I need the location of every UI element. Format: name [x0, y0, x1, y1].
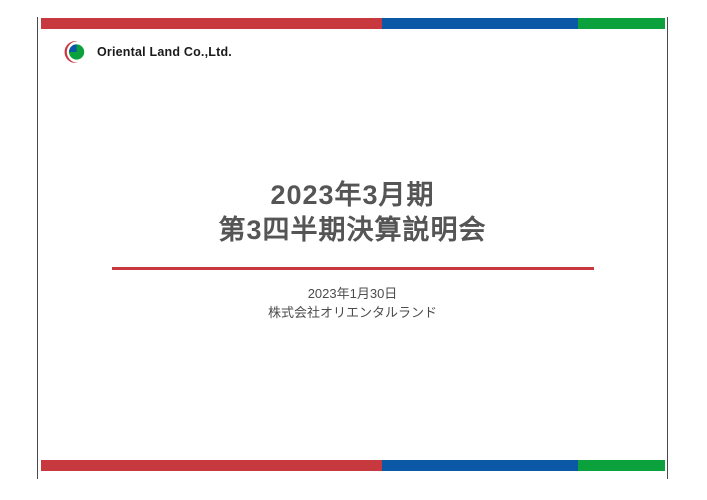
accent-bar-segment-green: [578, 18, 665, 29]
bottom-accent-bar: [41, 460, 665, 471]
accent-bar-segment-blue: [382, 18, 578, 29]
top-accent-bar: [41, 18, 665, 29]
title-line-1: 2023年3月期: [37, 178, 668, 213]
slide-content-frame: [37, 17, 668, 479]
presentation-slide: Oriental Land Co.,Ltd. 2023年3月期 第3四半期決算説…: [0, 0, 707, 500]
accent-bar-segment-red: [41, 18, 382, 29]
slide-subtitle: 2023年1月30日 株式会社オリエンタルランド: [37, 285, 668, 323]
title-line-2: 第3四半期決算説明会: [37, 213, 668, 248]
oriental-land-logo-icon: [60, 38, 88, 66]
title-divider-rule: [112, 267, 594, 270]
company-logo-lockup: Oriental Land Co.,Ltd.: [60, 38, 232, 66]
bottom-accent-bar-segment-blue: [382, 460, 578, 471]
slide-title: 2023年3月期 第3四半期決算説明会: [37, 178, 668, 247]
bottom-accent-bar-segment-green: [578, 460, 665, 471]
presentation-date: 2023年1月30日: [37, 285, 668, 304]
bottom-accent-bar-segment-red: [41, 460, 382, 471]
company-name-label: Oriental Land Co.,Ltd.: [97, 45, 232, 59]
presenting-company: 株式会社オリエンタルランド: [37, 304, 668, 323]
